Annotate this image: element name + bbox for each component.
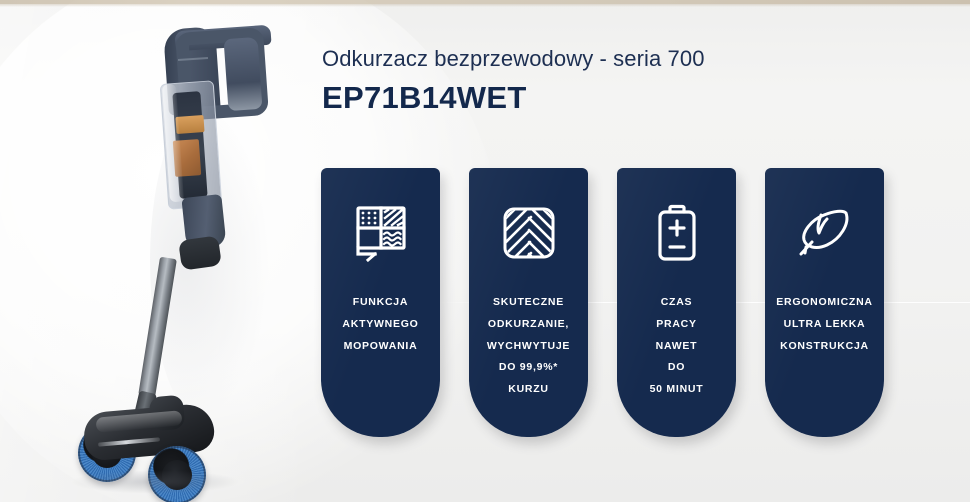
vacuum-bin-highlight: [162, 84, 184, 203]
vacuum-neck: [181, 194, 226, 250]
mop-pad-left: [78, 424, 136, 482]
feature-text-line: WYCHWYTUJE: [475, 336, 583, 358]
product-subtitle: Odkurzacz bezprzewodowy - seria 700: [322, 46, 922, 72]
vacuum-bin-core: [172, 91, 207, 199]
mop-head-body: [82, 402, 216, 461]
vacuum-motor-seam: [178, 57, 208, 61]
product-banner: Odkurzacz bezprzewodowy - seria 700 EP71…: [0, 0, 970, 502]
feature-card: FUNKCJA AKTYWNEGO MOPOWANIA: [321, 168, 440, 437]
feature-text-line: 50 MINUT: [623, 379, 731, 401]
feature-card-text: ERGONOMICZNA ULTRA LEKKA KONSTRUKCJA: [771, 292, 879, 357]
product-image: [0, 0, 330, 502]
feature-text-line: ULTRA LEKKA: [771, 314, 879, 336]
vacuum-extension-tube: [138, 257, 177, 398]
product-body-shadow: [150, 96, 270, 426]
feature-card-text: SKUTECZNE ODKURZANIE, WYCHWYTUJE DO 99,9…: [475, 292, 583, 401]
vacuum-copper-motor: [173, 139, 201, 177]
feature-card-text: CZAS PRACY NAWET DO 50 MINUT: [623, 292, 731, 401]
vacuum-battery-plate: [224, 37, 263, 111]
mop-floor-icon: [351, 202, 411, 264]
mop-head-joint: [149, 395, 186, 432]
feature-card: ERGONOMICZNA ULTRA LEKKA KONSTRUKCJA: [765, 168, 884, 437]
vacuum-tube-lower-joint: [133, 390, 157, 423]
vacuum-handle-loop: [175, 27, 269, 121]
feature-text-line: DO: [623, 357, 731, 379]
feature-card: SKUTECZNE ODKURZANIE, WYCHWYTUJE DO 99,9…: [469, 168, 588, 437]
feature-text-line: FUNKCJA: [327, 292, 435, 314]
feature-text-line: MOPOWANIA: [327, 336, 435, 358]
feature-card: CZAS PRACY NAWET DO 50 MINUT: [617, 168, 736, 437]
herringbone-floor-icon: [499, 202, 559, 264]
feature-text-line: CZAS: [623, 292, 731, 314]
vacuum-copper-ring: [175, 115, 204, 134]
feature-text-line: ODKURZANIE,: [475, 314, 583, 336]
heading-block: Odkurzacz bezprzewodowy - seria 700 EP71…: [322, 46, 922, 115]
vacuum-neck-cuff: [178, 235, 222, 270]
feature-text-line: KONSTRUKCJA: [771, 336, 879, 358]
feature-text-line: PRACY: [623, 314, 731, 336]
mop-head-shadow: [70, 470, 240, 494]
feature-text-line: NAWET: [623, 336, 731, 358]
mop-head-trim: [98, 437, 160, 446]
feature-text-line: ERGONOMICZNA: [771, 292, 879, 314]
mop-pad-right: [148, 446, 206, 502]
mop-head-highlight: [96, 410, 183, 432]
top-accent-strip-fade: [0, 4, 970, 7]
feature-text-line: KURZU: [475, 379, 583, 401]
vacuum-motor-body: [163, 26, 221, 115]
feature-card-text: FUNKCJA AKTYWNEGO MOPOWANIA: [327, 292, 435, 357]
vacuum-dust-bin: [160, 80, 223, 209]
battery-icon: [647, 202, 707, 264]
vacuum-grip-top: [174, 25, 271, 52]
feature-text-line: AKTYWNEGO: [327, 314, 435, 336]
feather-icon: [795, 202, 855, 264]
feature-card-list: FUNKCJA AKTYWNEGO MOPOWANIA: [321, 168, 884, 437]
feature-text-line: DO 99,9%*: [475, 357, 583, 379]
product-model-name: EP71B14WET: [322, 82, 922, 115]
feature-text-line: SKUTECZNE: [475, 292, 583, 314]
